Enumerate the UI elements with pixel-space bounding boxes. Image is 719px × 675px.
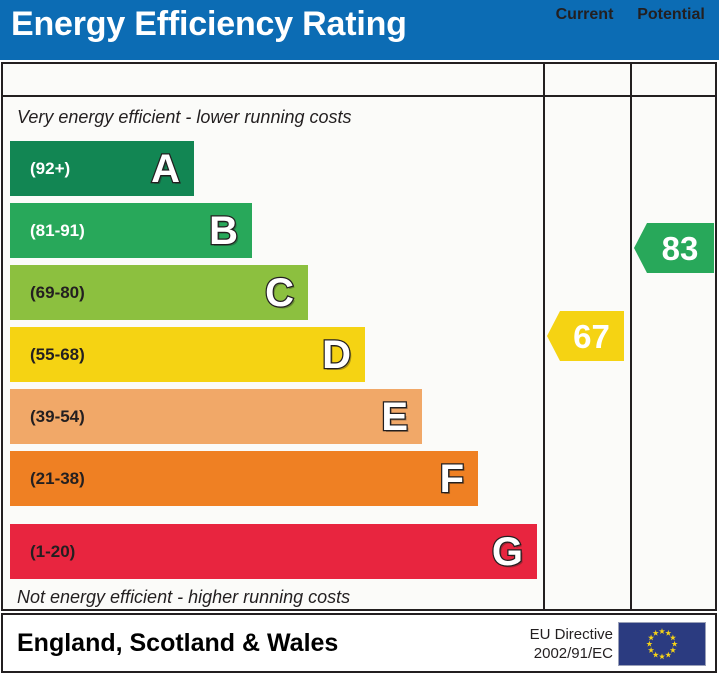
band-letter: C bbox=[265, 273, 294, 313]
caption-efficient: Very energy efficient - lower running co… bbox=[17, 107, 352, 128]
column-header-potential: Potential bbox=[628, 6, 714, 24]
rating-band-f: (21-38)F bbox=[10, 451, 478, 506]
band-range-label: (92+) bbox=[30, 159, 70, 179]
band-range-label: (55-68) bbox=[30, 345, 85, 365]
chart-footer: England, Scotland & Wales EU Directive 2… bbox=[1, 613, 717, 673]
eu-directive-label: EU Directive 2002/91/EC bbox=[530, 625, 613, 663]
footer-region-label: England, Scotland & Wales bbox=[17, 629, 338, 658]
rating-marker-potential: 83 bbox=[634, 223, 714, 273]
column-divider-potential bbox=[630, 64, 632, 609]
rating-band-b: (81-91)B bbox=[10, 203, 252, 258]
band-letter: E bbox=[381, 397, 408, 437]
column-header-row bbox=[3, 64, 715, 97]
rating-band-e: (39-54)E bbox=[10, 389, 422, 444]
band-range-label: (69-80) bbox=[30, 283, 85, 303]
band-letter: B bbox=[209, 211, 238, 251]
column-header-current: Current bbox=[541, 6, 628, 24]
rating-band-g: (1-20)G bbox=[10, 524, 537, 579]
band-letter: A bbox=[151, 149, 180, 189]
page-title: Energy Efficiency Rating bbox=[11, 5, 407, 44]
eu-directive-line1: EU Directive bbox=[530, 625, 613, 644]
band-range-label: (21-38) bbox=[30, 469, 85, 489]
rating-band-a: (92+)A bbox=[10, 141, 194, 196]
band-letter: F bbox=[440, 459, 464, 499]
column-divider-current bbox=[543, 64, 545, 609]
band-range-label: (1-20) bbox=[30, 542, 75, 562]
band-letter: G bbox=[492, 532, 523, 572]
band-range-label: (81-91) bbox=[30, 221, 85, 241]
energy-efficiency-rating-chart: Energy Efficiency Rating Current Potenti… bbox=[0, 0, 719, 675]
eu-directive-line2: 2002/91/EC bbox=[530, 644, 613, 663]
rating-value-potential: 83 bbox=[650, 232, 699, 265]
band-letter: D bbox=[322, 335, 351, 375]
rating-band-c: (69-80)C bbox=[10, 265, 308, 320]
rating-marker-current: 67 bbox=[547, 311, 624, 361]
rating-value-current: 67 bbox=[561, 320, 610, 353]
caption-inefficient: Not energy efficient - higher running co… bbox=[17, 587, 350, 608]
rating-band-d: (55-68)D bbox=[10, 327, 365, 382]
eu-flag-icon bbox=[618, 622, 706, 666]
band-range-label: (39-54) bbox=[30, 407, 85, 427]
